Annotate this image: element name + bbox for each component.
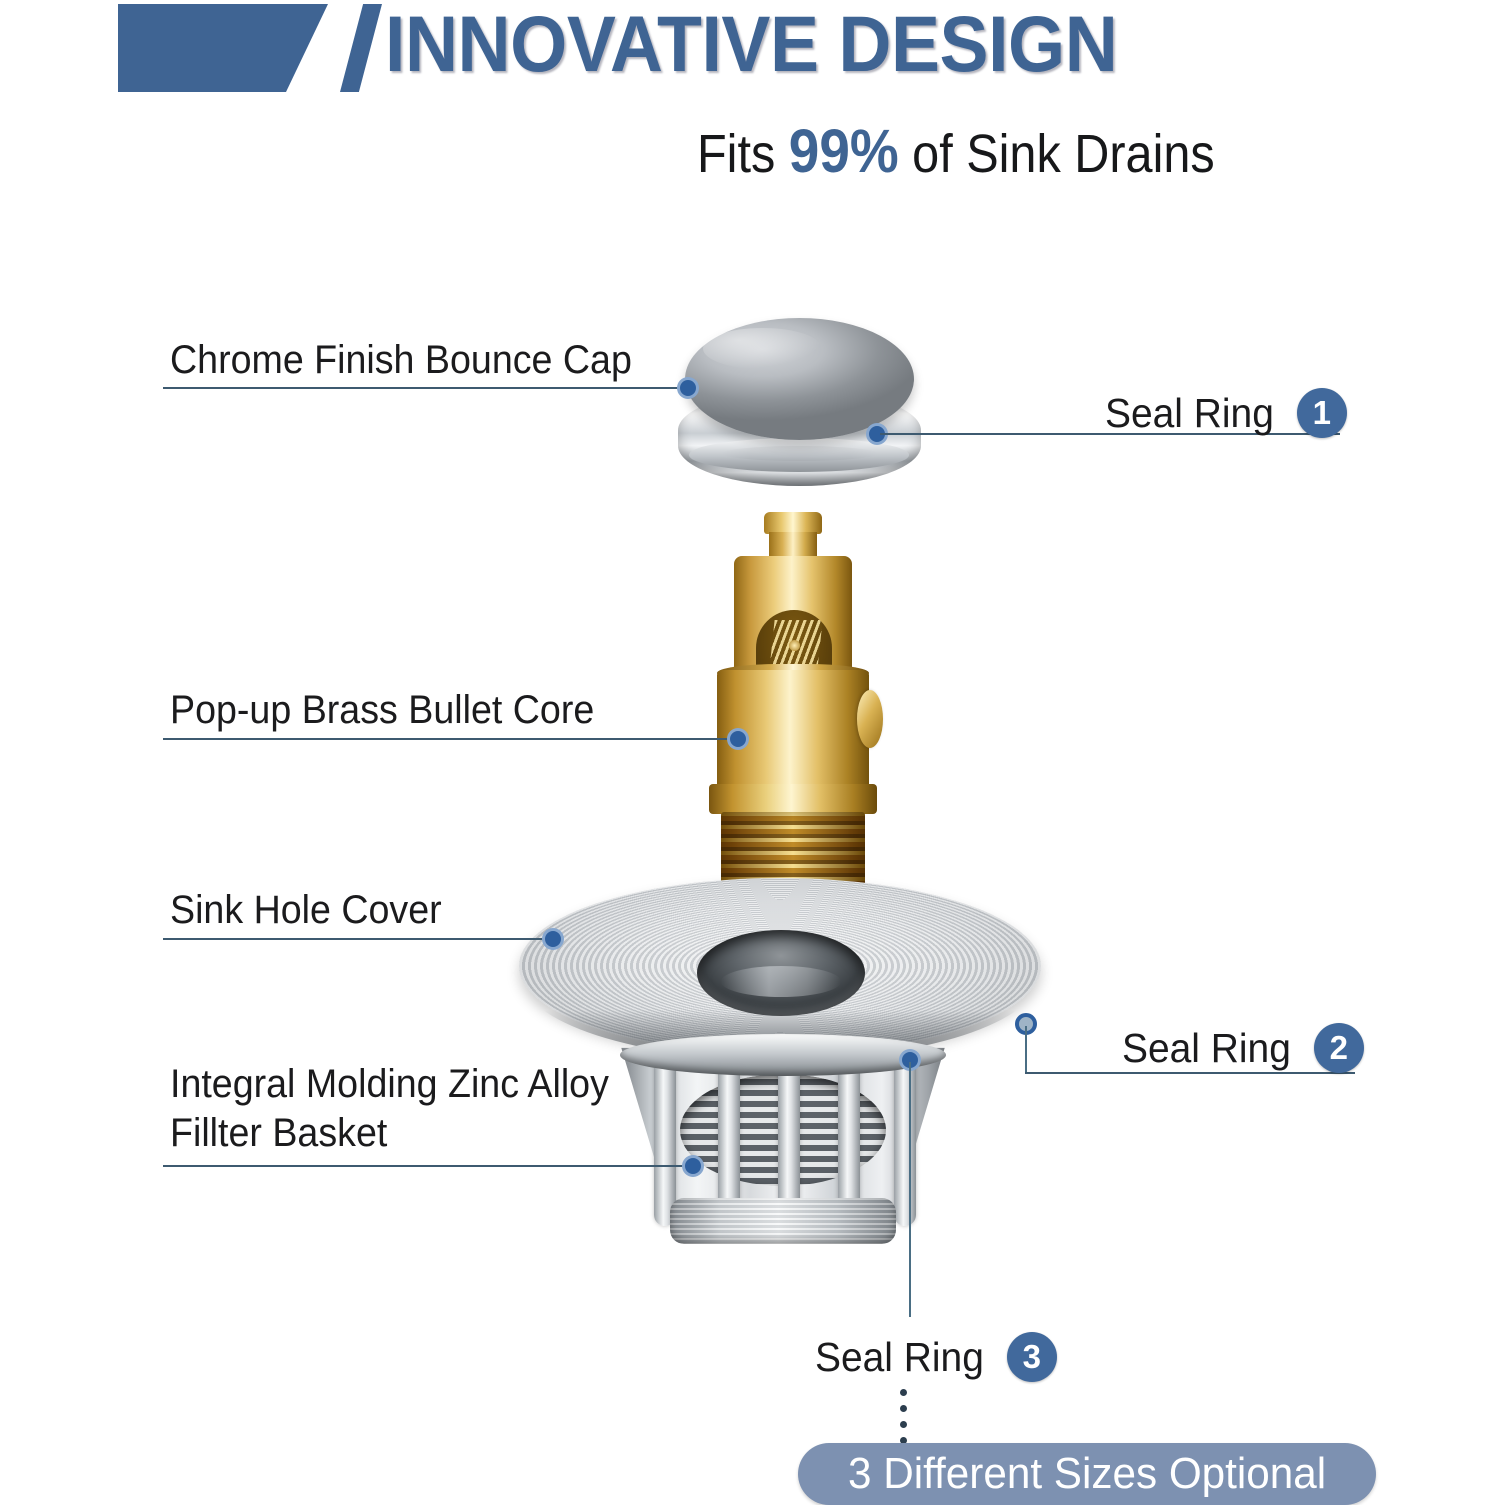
brass-bullet-core-part (699, 512, 889, 952)
core-mid-top-lip (717, 664, 869, 682)
core-tapered-tip (765, 928, 821, 962)
marker-dot-sink-hole-cover (542, 928, 564, 950)
leader-line-vertical-seal-ring-3 (909, 1062, 911, 1317)
status-badge-seal-ring-1: 1 (1297, 388, 1347, 438)
callout-label-seal-ring-1: Seal Ring 1 (1105, 388, 1347, 438)
leader-line-chrome-finish-bounce-cap (163, 387, 685, 389)
callout-label-chrome-finish-bounce-cap: Chrome Finish Bounce Cap (170, 336, 632, 385)
callout-label-line-1: Integral Molding Zinc Alloy (170, 1060, 659, 1109)
marker-dot-chrome-finish-bounce-cap (677, 377, 699, 399)
core-top-neck (769, 532, 817, 558)
dotted-connector-seal-ring-3-to-banner (900, 1389, 907, 1444)
disc-center-hole (697, 930, 865, 1016)
basket-base-ring (670, 1198, 896, 1244)
disc-brushed-face (519, 878, 1041, 1054)
callout-label-pop-up-brass-bullet-core: Pop-up Brass Bullet Core (170, 686, 594, 735)
seal-ring-1-text: Seal Ring (1105, 390, 1274, 437)
subtitle-prefix: Fits (697, 124, 789, 184)
subtitle-highlight-percent: 99% (789, 117, 899, 185)
brand-logo-mark (118, 4, 368, 92)
leader-line-integral-molding-zinc-alloy-filter-basket (163, 1165, 690, 1167)
basket-rib (894, 1056, 916, 1226)
basket-rib (718, 1056, 740, 1226)
basket-cone-body (618, 1040, 948, 1236)
callout-label-sink-hole-cover: Sink Hole Cover (170, 886, 442, 935)
status-badge-seal-ring-2: 2 (1314, 1023, 1364, 1073)
logo-slash-shape (340, 4, 382, 92)
callout-label-integral-molding-zinc-alloy-filter-basket: Integral Molding Zinc Alloy Fillter Bask… (170, 1060, 659, 1158)
disc-edge-shadow (521, 892, 1039, 1060)
core-upper-cylinder (734, 556, 852, 722)
leader-line-vertical-seal-ring-2 (1025, 1026, 1027, 1074)
core-tip-point (783, 958, 803, 974)
sizes-optional-banner-text: 3 Different Sizes Optional (848, 1449, 1326, 1499)
page-subtitle: Fits 99% of Sink Drains (697, 116, 1215, 186)
marker-dot-pop-up-brass-bullet-core (727, 728, 749, 750)
marker-dot-integral-molding-zinc-alloy-filter-basket (682, 1155, 704, 1177)
sizes-optional-banner: 3 Different Sizes Optional (798, 1443, 1376, 1505)
core-top-nub (764, 512, 822, 534)
chrome-bounce-cap-part (673, 318, 926, 490)
basket-rib (838, 1056, 860, 1226)
core-spring-window (756, 610, 832, 715)
leader-line-sink-hole-cover (163, 938, 550, 940)
core-threaded-section (721, 812, 865, 902)
core-lower-collar (739, 898, 847, 934)
subtitle-suffix: of Sink Drains (899, 124, 1215, 184)
seal-ring-2-text: Seal Ring (1122, 1025, 1291, 1072)
callout-label-seal-ring-2: Seal Ring 2 (1122, 1023, 1364, 1073)
core-flange (709, 784, 877, 814)
sink-hole-cover-disc-part (519, 878, 1041, 1078)
leader-line-pop-up-brass-bullet-core (163, 738, 735, 740)
cap-dome-top (685, 318, 914, 440)
core-side-pin (857, 690, 883, 748)
exploded-product-illustration (0, 0, 1497, 1497)
basket-rib (778, 1056, 800, 1226)
logo-parallelogram-shape (118, 4, 328, 92)
filter-basket-part (618, 1040, 948, 1260)
callout-label-line-2: Fillter Basket (170, 1109, 659, 1158)
infographic-canvas: INNOVATIVE DESIGN Fits 99% of Sink Drain… (0, 0, 1497, 1497)
basket-top-rim (620, 1034, 946, 1076)
callout-label-seal-ring-3: Seal Ring 3 (815, 1332, 1057, 1382)
basket-inner-thread-ring (680, 1074, 886, 1186)
page-title: INNOVATIVE DESIGN (385, 0, 1117, 90)
seal-ring-3-text: Seal Ring (815, 1334, 984, 1381)
status-badge-seal-ring-3: 3 (1007, 1332, 1057, 1382)
